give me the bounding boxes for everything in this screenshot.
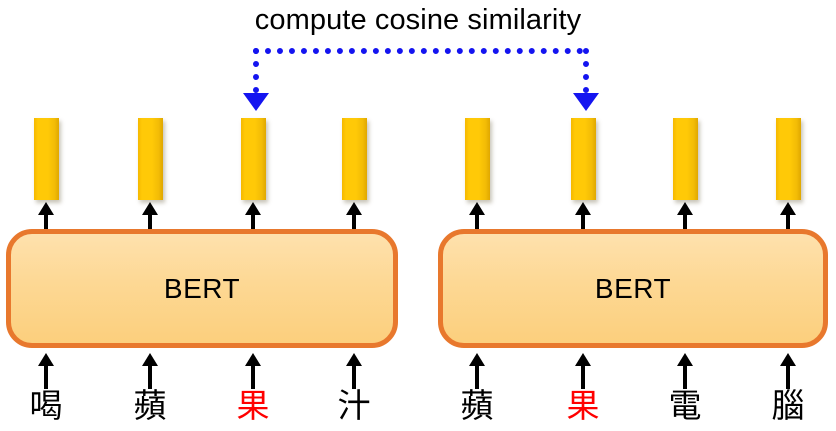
- bert-encoder-right[interactable]: BERT: [438, 229, 828, 348]
- embedding-bar: [138, 118, 163, 200]
- input-token[interactable]: 腦: [758, 386, 818, 426]
- input-token[interactable]: 汁: [324, 386, 384, 426]
- diagram-canvas: compute cosine similarity BERT BERT: [0, 0, 836, 431]
- embedding-bar-compared: [571, 118, 596, 200]
- embedding-bar: [465, 118, 490, 200]
- input-token[interactable]: 電: [655, 386, 715, 426]
- similarity-arrowhead-right: [573, 93, 599, 111]
- similarity-arrowhead-left: [243, 93, 269, 111]
- embedding-bar-compared: [241, 118, 266, 200]
- embedding-bar: [342, 118, 367, 200]
- embedding-bar: [34, 118, 59, 200]
- input-token-highlight[interactable]: 果: [553, 386, 613, 426]
- page-title: compute cosine similarity: [0, 2, 836, 38]
- input-token[interactable]: 蘋: [447, 386, 507, 426]
- similarity-vertical-line-left: [253, 48, 259, 93]
- embedding-bar: [776, 118, 801, 200]
- embedding-bar: [673, 118, 698, 200]
- bert-label: BERT: [164, 273, 240, 305]
- similarity-horizontal-line: [253, 48, 583, 54]
- bert-encoder-left[interactable]: BERT: [6, 229, 398, 348]
- input-token[interactable]: 蘋: [120, 386, 180, 426]
- input-token-highlight[interactable]: 果: [223, 386, 283, 426]
- similarity-vertical-line-right: [583, 48, 589, 93]
- bert-label: BERT: [595, 273, 671, 305]
- input-token[interactable]: 喝: [16, 386, 76, 426]
